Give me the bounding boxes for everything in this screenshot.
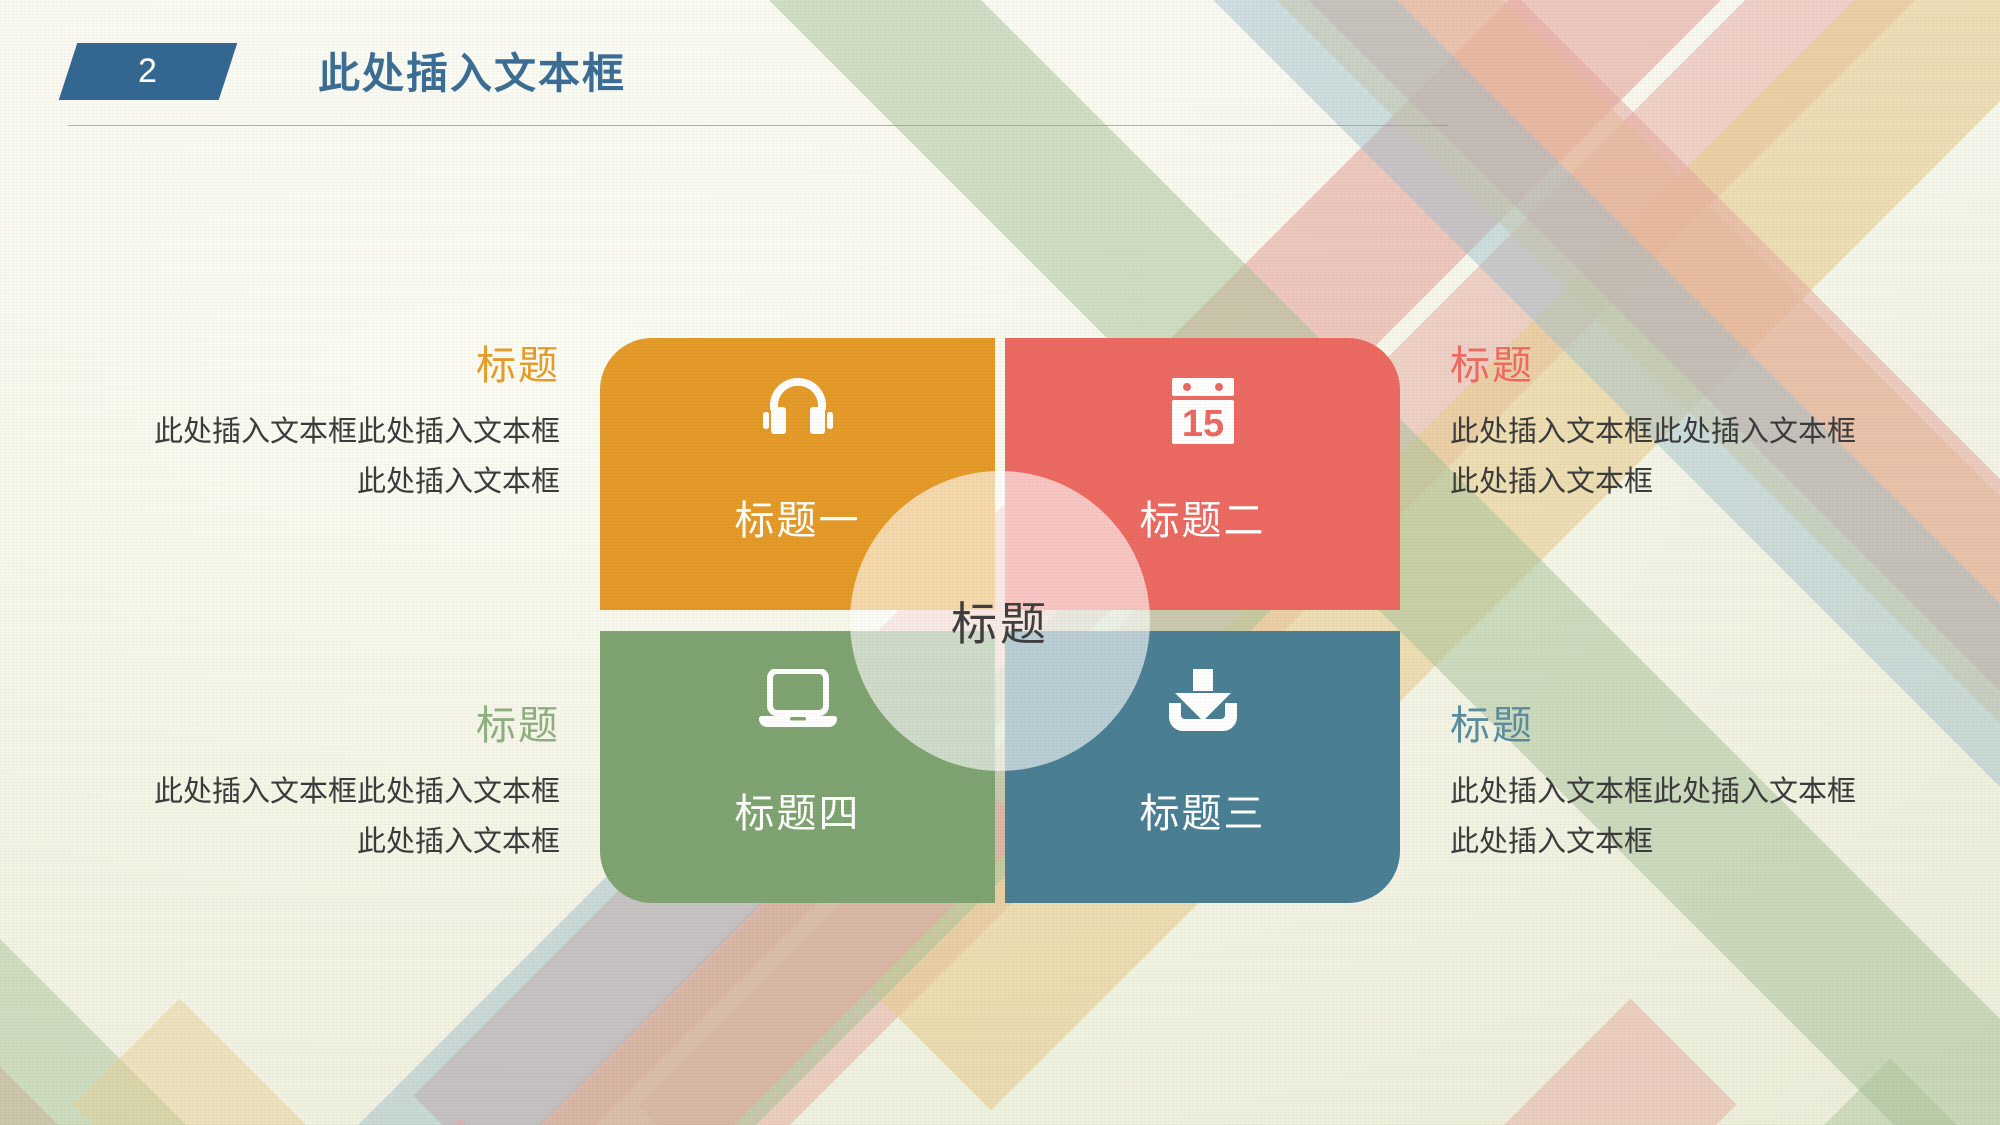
calendar-icon: 15 bbox=[1005, 376, 1400, 446]
laptop-icon bbox=[600, 669, 995, 731]
page-title: 此处插入文本框 bbox=[318, 48, 626, 100]
callout-heading: 标题 bbox=[30, 340, 560, 392]
ribbon-green-4 bbox=[193, 1058, 1996, 1125]
callout-heading: 标题 bbox=[30, 700, 560, 752]
tile-label: 标题二 bbox=[1005, 488, 1400, 546]
calendar-day-text: 15 bbox=[1181, 403, 1223, 445]
callout-top-left: 标题 此处插入文本框此处插入文本框 此处插入文本框 bbox=[30, 340, 560, 506]
callout-line-1: 此处插入文本框此处插入文本框 bbox=[30, 406, 560, 456]
tile-bottom-right[interactable]: 标题三 bbox=[1005, 631, 1400, 903]
slide-canvas: 2 此处插入文本框 标题一 bbox=[0, 0, 2000, 1125]
callout-body: 此处插入文本框此处插入文本框 此处插入文本框 bbox=[1450, 406, 1980, 506]
tile-top-right[interactable]: 15 标题二 bbox=[1005, 338, 1400, 610]
callout-line-1: 此处插入文本框此处插入文本框 bbox=[1450, 406, 1980, 456]
tile-label: 标题四 bbox=[600, 781, 995, 839]
title-divider bbox=[68, 125, 1448, 126]
headphones-icon bbox=[600, 376, 995, 438]
ribbon-pink-6 bbox=[0, 998, 1737, 1125]
callout-body: 此处插入文本框此处插入文本框 此处插入文本框 bbox=[30, 406, 560, 506]
ribbon-pink-7 bbox=[353, 1118, 2000, 1125]
callout-line-1: 此处插入文本框此处插入文本框 bbox=[1450, 766, 1980, 816]
callout-body: 此处插入文本框此处插入文本框 此处插入文本框 bbox=[30, 766, 560, 866]
slide-number-text: 2 bbox=[68, 43, 228, 100]
tile-label: 标题一 bbox=[600, 488, 995, 546]
callout-heading: 标题 bbox=[1450, 700, 1980, 752]
callout-top-right: 标题 此处插入文本框此处插入文本框 此处插入文本框 bbox=[1450, 340, 1980, 506]
callout-line-2: 此处插入文本框 bbox=[30, 456, 560, 506]
quadrant-cluster: 标题一 15 标题二 bbox=[600, 338, 1400, 903]
download-icon bbox=[1005, 669, 1400, 735]
ribbon-blue-3 bbox=[0, 869, 1101, 1125]
callout-bottom-right: 标题 此处插入文本框此处插入文本框 此处插入文本框 bbox=[1450, 700, 1980, 866]
callout-body: 此处插入文本框此处插入文本框 此处插入文本框 bbox=[1450, 766, 1980, 866]
callout-heading: 标题 bbox=[1450, 340, 1980, 392]
tile-label: 标题三 bbox=[1005, 781, 1400, 839]
callout-line-2: 此处插入文本框 bbox=[1450, 456, 1980, 506]
callout-line-1: 此处插入文本框此处插入文本框 bbox=[30, 766, 560, 816]
ribbon-yellow-3 bbox=[73, 998, 1876, 1125]
tile-top-left[interactable]: 标题一 bbox=[600, 338, 995, 610]
tile-bottom-left[interactable]: 标题四 bbox=[600, 631, 995, 903]
callout-line-2: 此处插入文本框 bbox=[30, 816, 560, 866]
callout-line-2: 此处插入文本框 bbox=[1450, 816, 1980, 866]
center-label: 标题 bbox=[951, 588, 1049, 654]
callout-bottom-left: 标题 此处插入文本框此处插入文本框 此处插入文本框 bbox=[30, 700, 560, 866]
